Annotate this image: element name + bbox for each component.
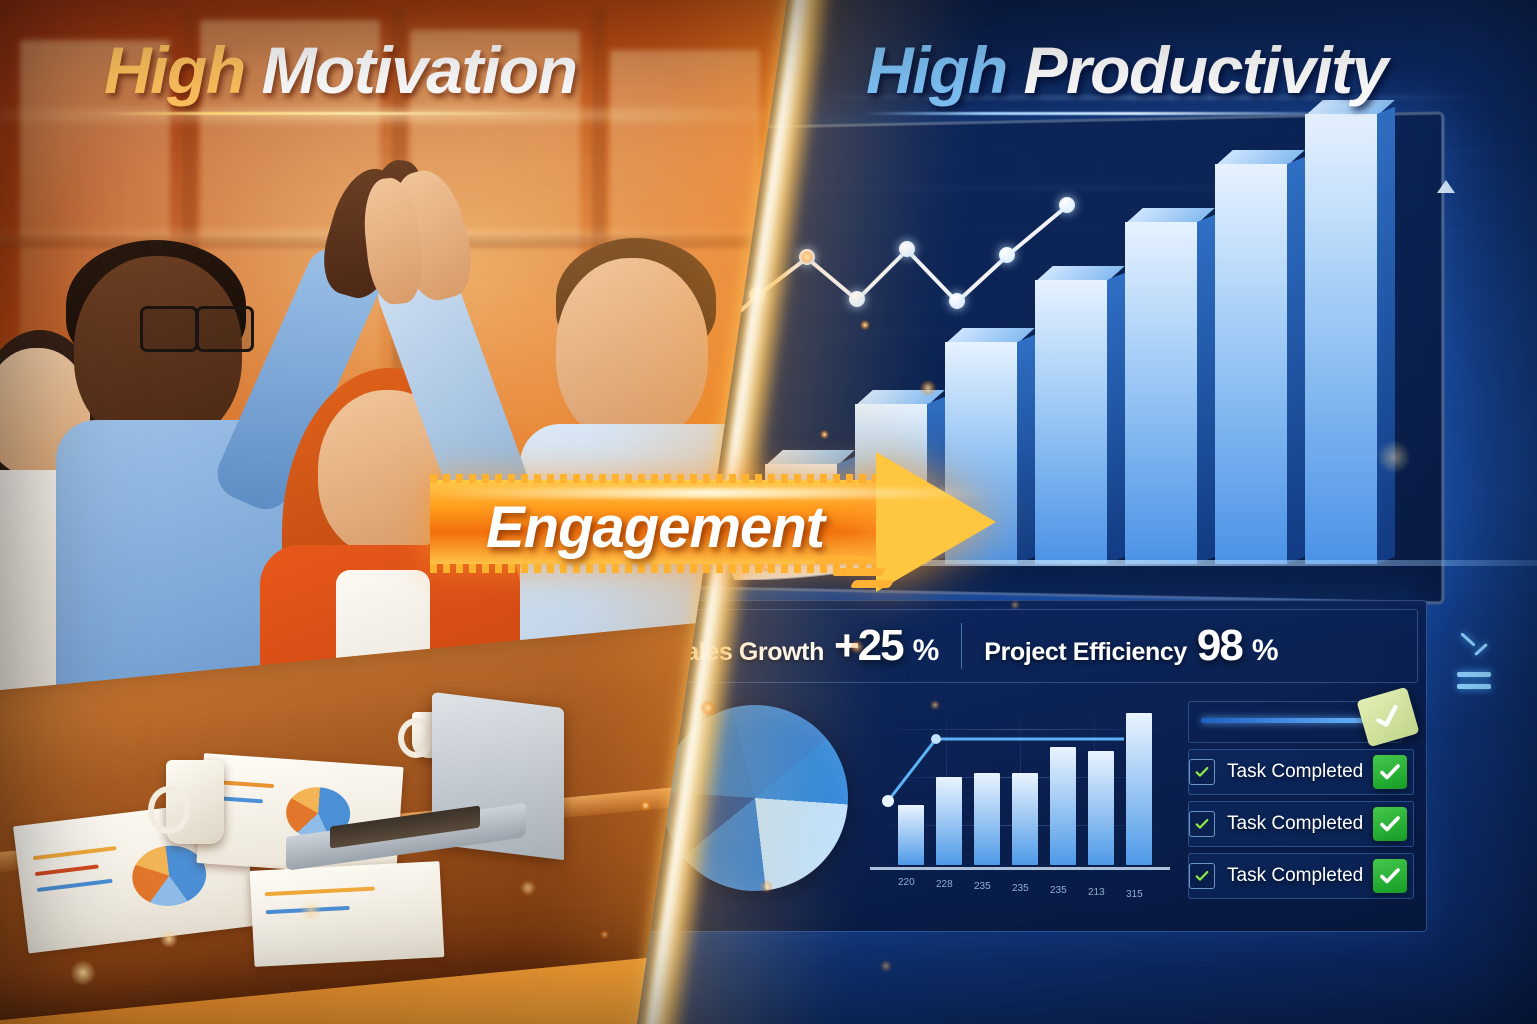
right-heading-rest: Productivity	[1023, 33, 1386, 107]
right-heading-highlight: High	[866, 33, 1023, 107]
task-row[interactable]: Task Completed	[1188, 749, 1414, 795]
task-row[interactable]: Task Completed	[1188, 801, 1414, 847]
stat-label: Project Efficiency	[984, 638, 1187, 667]
left-heading: High Motivation	[104, 32, 576, 108]
task-checkbox[interactable]	[1189, 759, 1215, 785]
engagement-arrow-banner: Engagement	[430, 452, 1010, 592]
right-heading-underline	[862, 112, 1362, 115]
task-label: Task Completed	[1215, 865, 1373, 887]
triangle-marker-icon	[1437, 180, 1455, 193]
bar-column	[1035, 280, 1107, 564]
bar-column	[1125, 222, 1197, 564]
edge-indicator-icon	[1455, 636, 1495, 700]
axis-tick-label: 220	[898, 877, 915, 888]
infographic-canvas: 50 40 30 20 10	[0, 0, 1537, 1024]
task-row[interactable]: Task Completed	[1188, 853, 1414, 899]
right-arrow-icon	[876, 452, 996, 592]
stat-project-efficiency: Project Efficiency 98 %	[962, 621, 1300, 671]
axis-tick-label: 235	[1050, 885, 1067, 896]
secondary-bar-chart: 220 228 235 235 235 213 315	[874, 705, 1164, 905]
right-heading: High Productivity	[866, 32, 1387, 108]
task-label: Task Completed	[1215, 813, 1373, 835]
task-complete-button[interactable]	[1373, 755, 1407, 789]
stat-unit: %	[913, 634, 940, 668]
task-complete-button[interactable]	[1373, 859, 1407, 893]
left-heading-highlight: High	[104, 33, 261, 107]
task-complete-button[interactable]	[1373, 807, 1407, 841]
task-checkbox[interactable]	[1189, 811, 1215, 837]
task-checkbox[interactable]	[1189, 863, 1215, 889]
axis-tick-label: 235	[1012, 883, 1029, 894]
engagement-label: Engagement	[486, 494, 824, 561]
axis-tick-label: 235	[974, 881, 991, 892]
left-heading-rest: Motivation	[261, 33, 576, 107]
stat-value: 98	[1197, 621, 1242, 671]
glasses-icon	[140, 306, 198, 352]
task-label: Task Completed	[1215, 761, 1373, 783]
stat-unit: %	[1252, 634, 1279, 668]
axis-tick-label: 213	[1088, 887, 1105, 898]
report-paper	[250, 861, 445, 967]
axis-tick-label: 228	[936, 879, 953, 890]
left-heading-underline	[100, 112, 560, 115]
axis-tick-label: 315	[1126, 889, 1143, 900]
bar-column	[1215, 164, 1287, 564]
bar-column	[1305, 114, 1377, 564]
